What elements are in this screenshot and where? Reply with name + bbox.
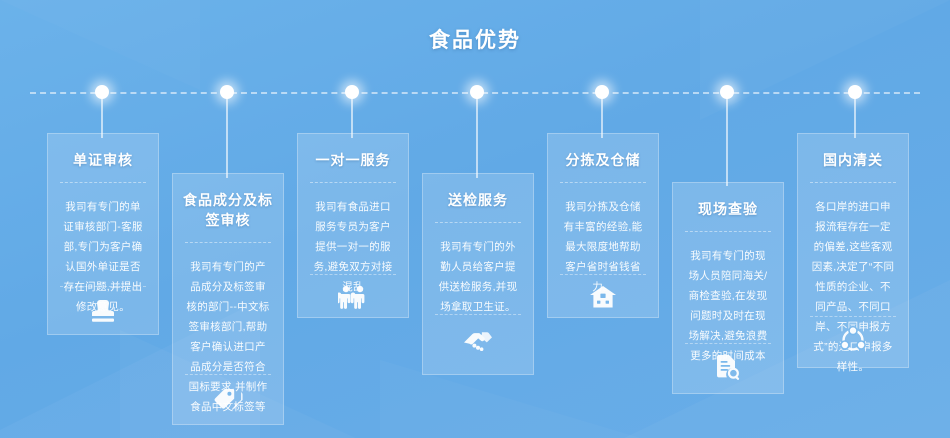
card-divider (435, 222, 521, 223)
feature-card-6[interactable]: 现场查验 我司有专门的现场人员陪同海关/商检查验,在发现问题时及时在现场解决,避… (672, 182, 784, 394)
card-divider (810, 182, 896, 183)
feature-card-2[interactable]: 食品成分及标签审核 我司有专门的产品成分及标签审核的部门--中文标签审核部门,帮… (172, 173, 284, 425)
handshake-icon (423, 326, 533, 359)
stamp-icon (48, 297, 158, 330)
document-search-icon (673, 353, 783, 386)
card-title: 送检服务 (431, 190, 525, 210)
card-title: 现场查验 (681, 199, 775, 219)
timeline-stem (726, 96, 728, 186)
warehouse-icon (548, 284, 658, 315)
network-nodes-icon (798, 326, 908, 359)
card-title: 食品成分及标签审核 (181, 190, 275, 230)
card-divider (60, 182, 146, 183)
card-divider (185, 242, 271, 243)
card-divider-bottom (810, 316, 896, 317)
card-title: 单证审核 (56, 150, 150, 170)
card-body: 我司分拣及仓储有丰富的经验,能最大限度地帮助客户省时省钱省力。 (560, 197, 646, 297)
diagram-stage: 食品优势 单证审核 我司有专门的单证审核部门-客服部,专门为客户确认国外单证是否… (0, 0, 950, 438)
card-divider (560, 182, 646, 183)
card-body: 我司有专门的外勤人员给客户提供送检服务,并现场拿取卫生证。 (435, 237, 521, 317)
timeline-stem (351, 96, 353, 138)
two-people-icon (298, 284, 408, 317)
tag-icon (173, 386, 283, 419)
timeline-stem (854, 96, 856, 138)
card-body: 我司有食品进口服务专员为客户提供一对一的服务,避免双方对接混乱 (310, 197, 396, 297)
timeline-stem (226, 96, 228, 178)
feature-card-3[interactable]: 一对一服务 我司有食品进口服务专员为客户提供一对一的服务,避免双方对接混乱 (297, 133, 409, 318)
card-divider-bottom (60, 286, 146, 287)
feature-card-1[interactable]: 单证审核 我司有专门的单证审核部门-客服部,专门为客户确认国外单证是否存在问题,… (47, 133, 159, 335)
card-divider-bottom (310, 274, 396, 275)
timeline-stem (476, 96, 478, 178)
timeline-stem (601, 96, 603, 138)
card-divider-bottom (560, 274, 646, 275)
feature-card-4[interactable]: 送检服务 我司有专门的外勤人员给客户提供送检服务,并现场拿取卫生证。 (422, 173, 534, 375)
card-divider (310, 182, 396, 183)
background-polygon (700, 0, 950, 120)
card-divider-bottom (435, 314, 521, 315)
timeline-stem (101, 96, 103, 138)
card-title: 国内清关 (806, 150, 900, 170)
feature-card-5[interactable]: 分拣及仓储 我司分拣及仓储有丰富的经验,能最大限度地帮助客户省时省钱省力。 (547, 133, 659, 318)
page-title: 食品优势 (0, 24, 950, 54)
card-title: 一对一服务 (306, 150, 400, 170)
card-divider (685, 231, 771, 232)
card-body: 我司有专门的现场人员陪同海关/商检查验,在发现问题时及时在现场解决,避免浪费更多… (685, 246, 771, 366)
card-title: 分拣及仓储 (556, 150, 650, 170)
feature-card-7[interactable]: 国内清关 各口岸的进口申报流程存在一定的偏差,这些客观因素,决定了“不同性质的企… (797, 133, 909, 368)
card-divider-bottom (685, 343, 771, 344)
card-divider-bottom (185, 374, 271, 375)
